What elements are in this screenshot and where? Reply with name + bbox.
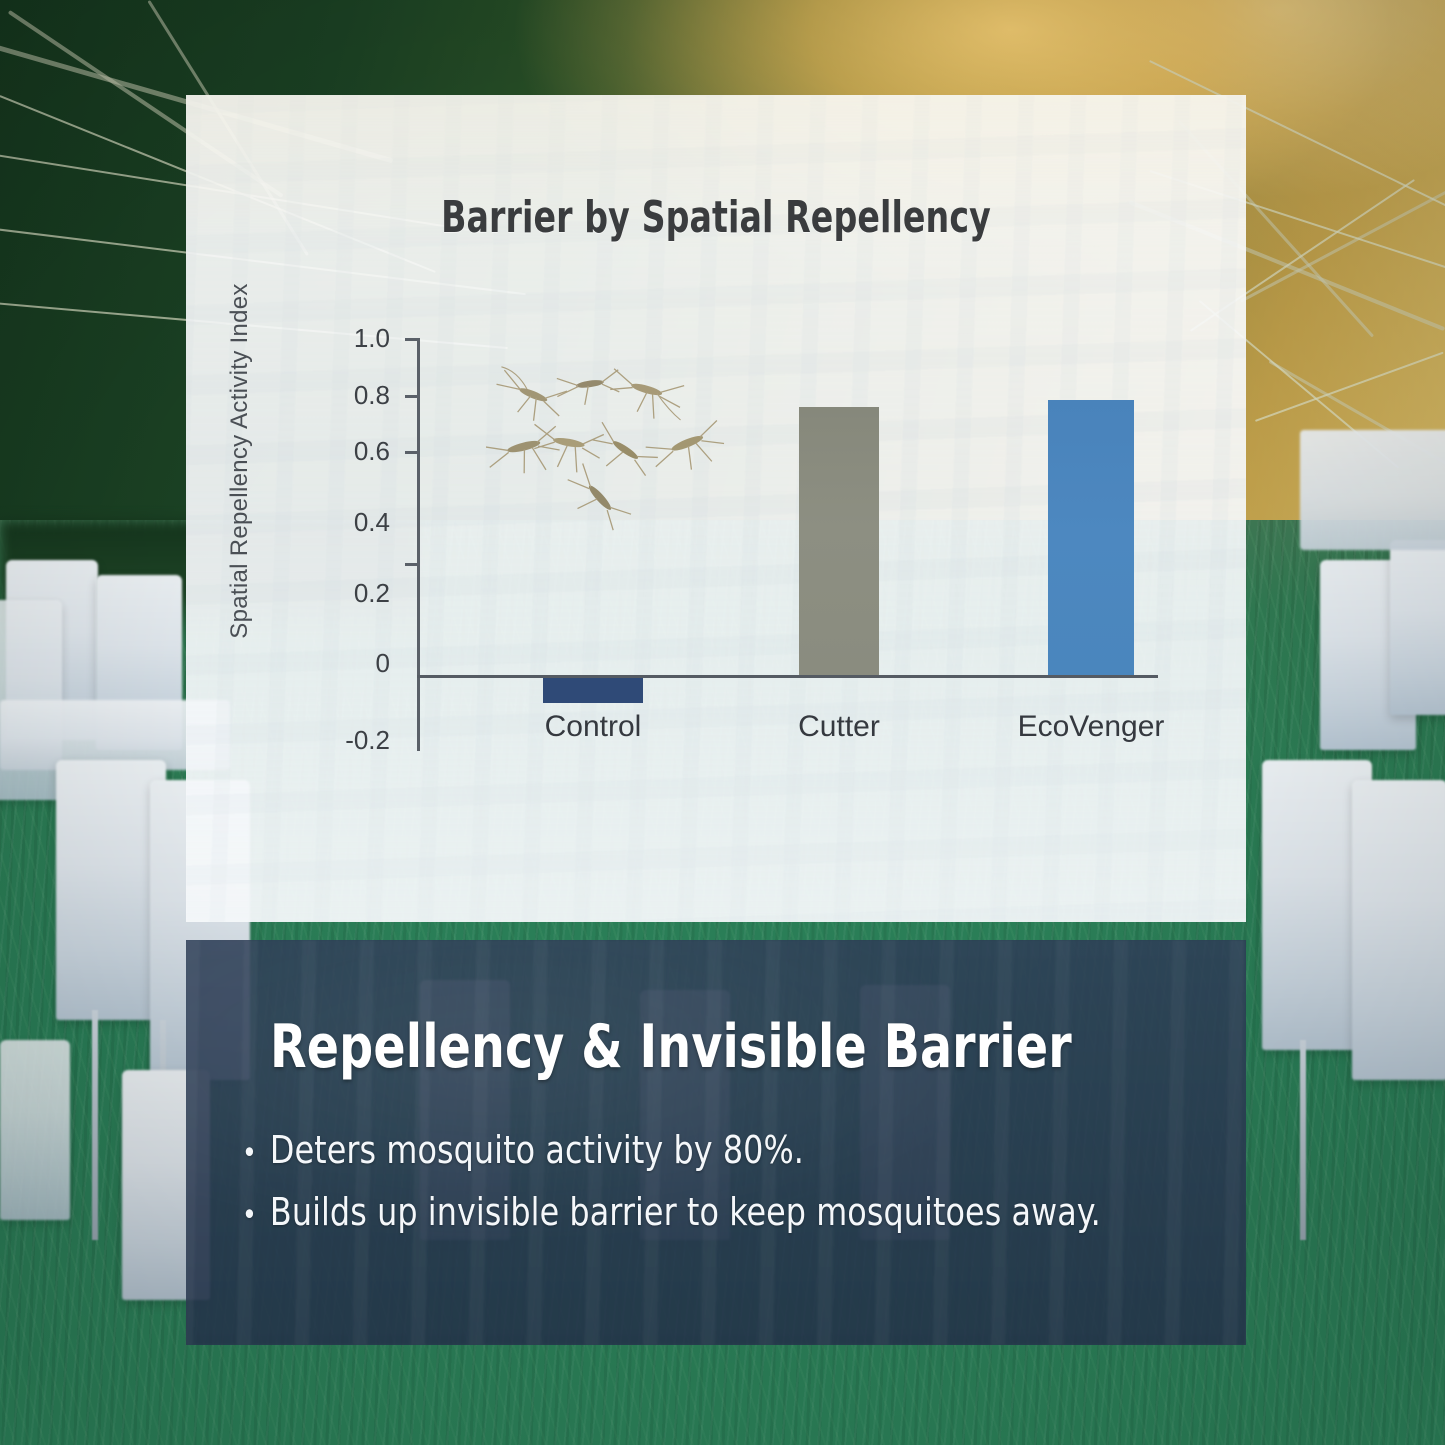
bar-cutter bbox=[799, 407, 879, 675]
x-tick-label-ecovenger: EcoVenger bbox=[981, 710, 1201, 744]
bullet-dot-icon: • bbox=[242, 1139, 257, 1169]
y-tick-mark bbox=[405, 563, 418, 566]
bar-control bbox=[543, 678, 643, 703]
y-tick-mark bbox=[405, 338, 418, 341]
x-tick-label-cutter: Cutter bbox=[739, 710, 939, 744]
y-tick-label-1-0: 1.0 bbox=[316, 323, 390, 354]
y-axis-line bbox=[417, 338, 420, 751]
info-bullet-1-text: Deters mosquito activity by 80%. bbox=[270, 1128, 804, 1172]
y-tick-label-neg-0-2: -0.2 bbox=[316, 725, 390, 756]
y-tick-label-0-8: 0.8 bbox=[316, 380, 390, 411]
info-heading: Repellency & Invisible Barrier bbox=[270, 1012, 1072, 1082]
mosquito-swarm-svg bbox=[486, 363, 731, 538]
bar-ecovenger bbox=[1048, 400, 1134, 675]
y-tick-mark bbox=[405, 451, 418, 454]
mosquito-swarm-icon bbox=[486, 363, 731, 538]
info-bullet-1: • Deters mosquito activity by 80%. bbox=[242, 1128, 804, 1172]
zero-baseline bbox=[417, 675, 1158, 678]
y-tick-label-0-6: 0.6 bbox=[316, 436, 390, 467]
info-bullet-2: • Builds up invisible barrier to keep mo… bbox=[242, 1190, 1101, 1234]
bullet-dot-icon: • bbox=[242, 1201, 257, 1231]
y-tick-label-0: 0 bbox=[316, 648, 390, 679]
info-panel: Repellency & Invisible Barrier • Deters … bbox=[186, 940, 1246, 1345]
y-tick-mark bbox=[405, 395, 418, 398]
y-tick-label-0-2: 0.2 bbox=[316, 578, 390, 609]
bar-chart-plot: Spatial Repellency Activity Index 1.0 0.… bbox=[186, 95, 1246, 922]
info-bullet-2-text: Builds up invisible barrier to keep mosq… bbox=[270, 1190, 1101, 1234]
y-tick-label-0-4: 0.4 bbox=[316, 507, 390, 538]
y-axis-label: Spatial Repellency Activity Index bbox=[226, 211, 254, 711]
chart-panel: Barrier by Spatial Repellency Spatial Re… bbox=[186, 95, 1246, 922]
x-tick-label-control: Control bbox=[493, 710, 693, 744]
